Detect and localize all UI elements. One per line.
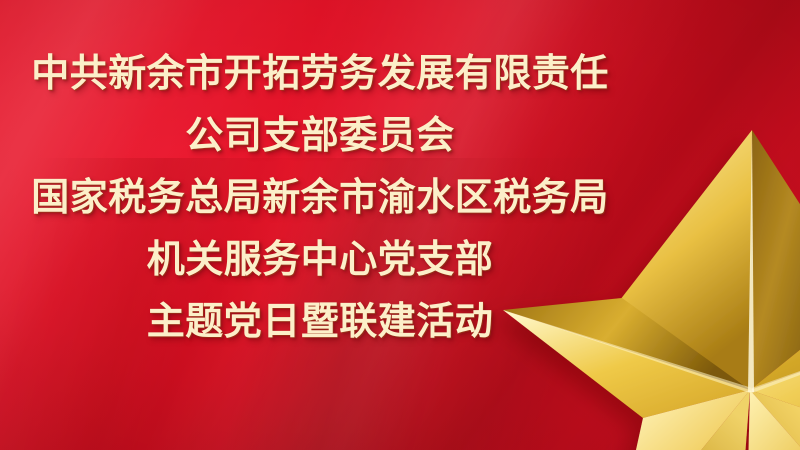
headline-block: 中共新余市开拓劳务发展有限责任 公司支部委员会 国家税务总局新余市渝水区税务局 … xyxy=(0,0,640,450)
poster-canvas: 中共新余市开拓劳务发展有限责任 公司支部委员会 国家税务总局新余市渝水区税务局 … xyxy=(0,0,800,450)
headline-line-1: 中共新余市开拓劳务发展有限责任 xyxy=(31,42,609,104)
headline-line-5: 主题党日暨联建活动 xyxy=(147,290,494,352)
headline-line-2: 公司支部委员会 xyxy=(185,104,455,166)
headline-line-3: 国家税务总局新余市渝水区税务局 xyxy=(31,166,609,228)
headline-line-4: 机关服务中心党支部 xyxy=(147,228,494,290)
